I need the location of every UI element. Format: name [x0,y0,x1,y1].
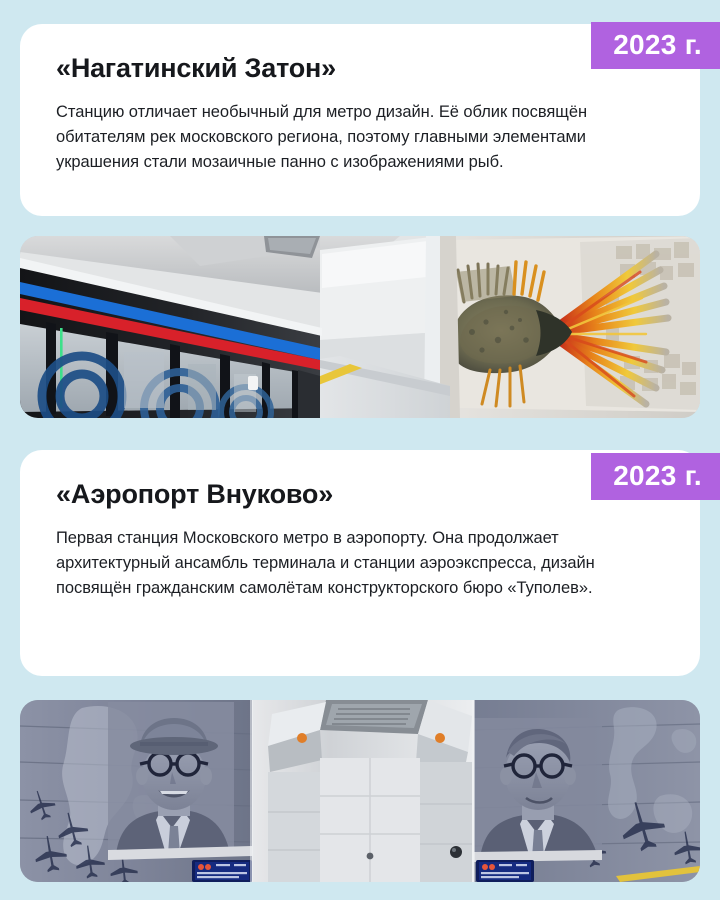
year-badge: 2023 г. [591,22,720,69]
station-photo-nagatinsky [20,236,700,418]
station-photo-illustration [20,236,700,418]
station-photo-vnukovo [20,700,700,882]
station-description: Первая станция Московского метро в аэроп… [56,526,646,601]
station-photo-illustration [20,700,700,882]
station-title: «Нагатинский Затон» [56,54,664,84]
infographic-page: «Нагатинский Затон» Станцию отличает нео… [0,0,720,900]
station-title: «Аэропорт Внуково» [56,480,664,510]
year-badge: 2023 г. [591,453,720,500]
station-description: Станцию отличает необычный для метро диз… [56,100,646,175]
